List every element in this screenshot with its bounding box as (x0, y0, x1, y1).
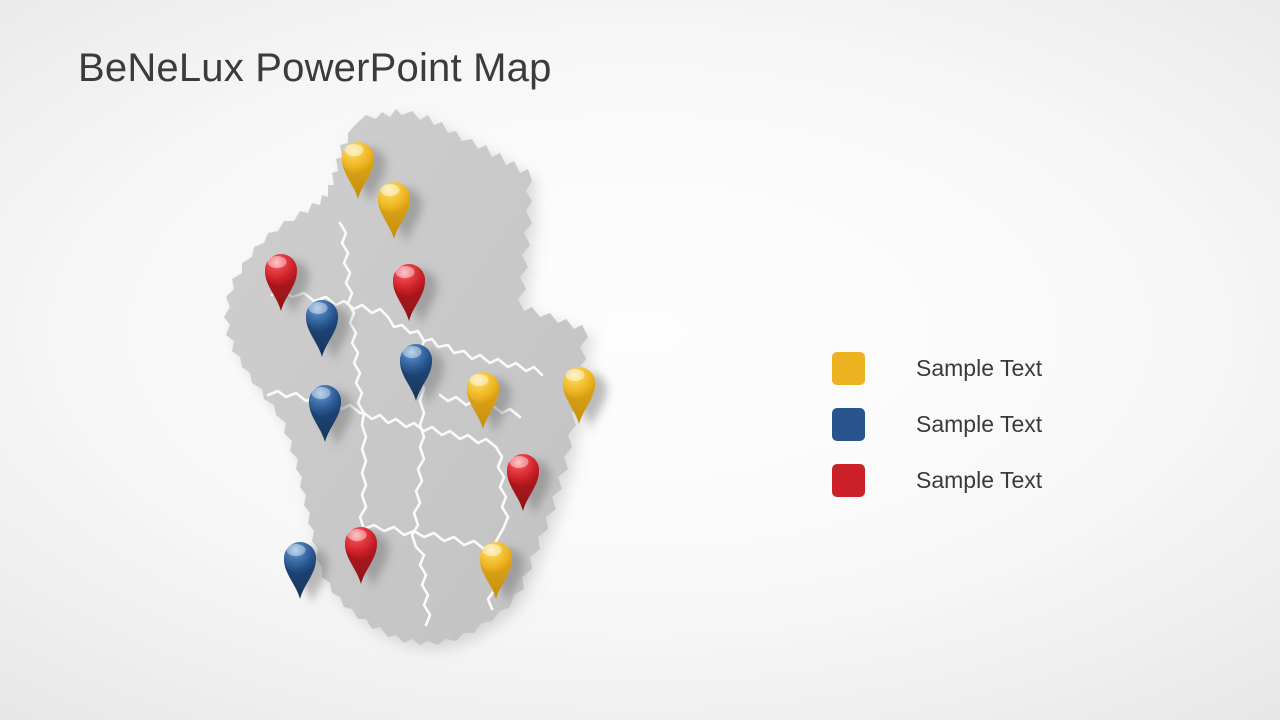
map-pin-yellow-2[interactable] (371, 176, 417, 240)
map-pin-blue-3[interactable] (302, 379, 348, 443)
legend-item-red[interactable]: Sample Text (832, 452, 1092, 508)
legend-label-yellow: Sample Text (916, 355, 1042, 382)
slide-canvas: BeNeLux PowerPoint Map (0, 0, 1280, 720)
map-pin-red-1[interactable] (258, 248, 304, 312)
map-pin-yellow-5[interactable] (473, 536, 519, 600)
map-pin-red-4[interactable] (338, 521, 384, 585)
map-pin-yellow-3[interactable] (460, 366, 506, 430)
map-pin-yellow-4[interactable] (556, 361, 602, 425)
legend-label-blue: Sample Text (916, 411, 1042, 438)
map-pin-blue-4[interactable] (277, 536, 323, 600)
map-pin-blue-2[interactable] (393, 338, 439, 402)
legend-item-blue[interactable]: Sample Text (832, 396, 1092, 452)
map-pin-blue-1[interactable] (299, 294, 345, 358)
legend-swatch-red-icon (832, 464, 865, 497)
map-pin-red-3[interactable] (500, 448, 546, 512)
legend-label-red: Sample Text (916, 467, 1042, 494)
legend-swatch-blue-icon (832, 408, 865, 441)
map-container[interactable] (180, 95, 740, 695)
legend-swatch-yellow-icon (832, 352, 865, 385)
legend-item-yellow[interactable]: Sample Text (832, 340, 1092, 396)
legend: Sample Text Sample Text Sample Text (832, 340, 1092, 508)
map-pin-red-2[interactable] (386, 258, 432, 322)
page-title: BeNeLux PowerPoint Map (78, 42, 552, 94)
